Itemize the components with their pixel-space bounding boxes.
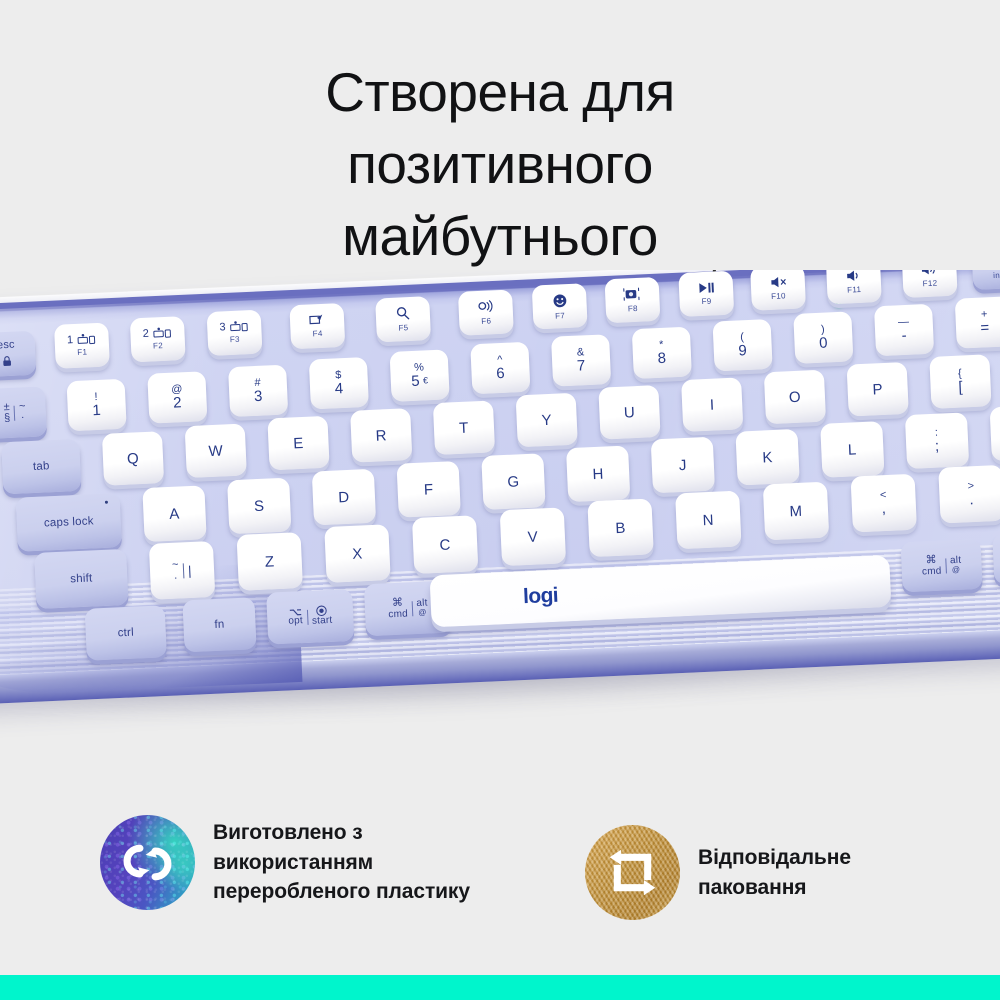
key-section[interactable]: ± § ~ · [0, 386, 47, 439]
key-f12[interactable]: F12 [902, 270, 958, 298]
key-f11[interactable]: F11 [826, 270, 882, 304]
emoji-icon [551, 292, 569, 310]
key-p[interactable]: P [847, 362, 909, 417]
search-icon [395, 305, 412, 322]
key-g[interactable]: G [481, 453, 545, 510]
responsible-packaging-icon [585, 825, 680, 920]
key-o[interactable]: O [764, 370, 826, 425]
key-u[interactable]: U [598, 385, 660, 440]
key-7[interactable]: & 7 [551, 334, 611, 387]
logi-logo: logi [523, 584, 559, 610]
key-ctrl[interactable]: ctrl [85, 605, 167, 661]
key-n[interactable]: N [675, 491, 741, 550]
at-icon-right: @ [952, 566, 961, 575]
badge-responsible-packaging-text: Відповідальне паковання [698, 843, 851, 902]
key-v[interactable]: V [500, 507, 566, 566]
key-f6[interactable]: F6 [458, 289, 514, 335]
key-r[interactable]: R [350, 408, 412, 463]
screenshot-camera-icon [623, 286, 642, 303]
key-w[interactable]: W [185, 424, 247, 479]
key-j[interactable]: J [651, 437, 715, 494]
key-f9[interactable]: F9 [678, 271, 734, 317]
snip-screenshot-icon [308, 313, 327, 328]
key-y[interactable]: Y [516, 393, 578, 448]
at-icon: @ [418, 609, 427, 618]
key-x[interactable]: X [324, 524, 390, 583]
key-9[interactable]: ( 9 [713, 319, 773, 372]
product-image-keyboard: esc 1 F1 [0, 270, 1000, 770]
dictation-icon [476, 299, 495, 316]
key-5[interactable]: % 5 € [390, 349, 450, 402]
device-1-icon [76, 333, 97, 346]
key-f3[interactable]: 3 F3 [207, 310, 263, 356]
key-h[interactable]: H [566, 445, 630, 502]
key-f5[interactable]: F5 [375, 296, 431, 342]
key-6[interactable]: ^ 6 [470, 342, 530, 395]
key-0[interactable]: ) 0 [793, 311, 853, 364]
keyboard-keys: esc 1 F1 [0, 270, 1000, 712]
key-q[interactable]: Q [102, 431, 164, 486]
sustainability-badges: Виготовлено з використанням переробленог… [0, 805, 1000, 945]
key-f4[interactable]: F4 [289, 303, 345, 349]
key-opt-start-left[interactable]: opt start [266, 589, 354, 645]
key-k[interactable]: K [735, 429, 799, 486]
key-esc[interactable]: esc [0, 331, 36, 378]
recycle-loop-glyph [100, 815, 195, 910]
key-i[interactable]: I [681, 377, 743, 432]
key-ins-brightness[interactable]: ins [971, 270, 1000, 290]
badge-responsible-packaging: Відповідальне паковання [585, 825, 851, 920]
key-f7[interactable]: F7 [532, 283, 588, 329]
key-semicolon[interactable]: : ; [905, 412, 969, 469]
key-bracket-left[interactable]: { [ [929, 354, 991, 409]
device-3-icon [229, 321, 250, 334]
key-z[interactable]: Z [237, 532, 303, 591]
key-c[interactable]: C [412, 515, 478, 574]
key-b[interactable]: B [587, 498, 653, 557]
key-minus[interactable]: — - [874, 304, 934, 357]
key-backslash[interactable]: ~ . | [149, 541, 215, 600]
key-spacebar[interactable]: logi [430, 555, 892, 627]
key-f10[interactable]: F10 [750, 270, 806, 311]
key-t[interactable]: T [433, 400, 495, 455]
key-3[interactable]: # 3 [228, 365, 288, 418]
key-s[interactable]: S [227, 478, 291, 535]
key-a[interactable]: A [142, 485, 206, 542]
caps-lock-indicator-icon [105, 501, 108, 504]
key-m[interactable]: M [763, 482, 829, 541]
key-8[interactable]: * 8 [632, 327, 692, 380]
mute-icon [768, 274, 788, 290]
key-cmd-alt-right[interactable]: ⌘ cmd alt @ [901, 539, 983, 593]
key-caps-lock[interactable]: caps lock [16, 493, 122, 552]
page-headline: Створена для позитивного майбутнього [0, 56, 1000, 272]
key-comma[interactable]: < , [851, 474, 917, 533]
badge-recycled-plastic-text: Виготовлено з використанням переробленог… [213, 818, 470, 906]
key-f2[interactable]: 2 F2 [130, 316, 186, 362]
recycled-plastic-icon [100, 815, 195, 910]
key-l[interactable]: L [820, 421, 884, 478]
key-equal[interactable]: + = [955, 296, 1000, 349]
key-shift-left[interactable]: shift [34, 549, 128, 609]
lock-icon [0, 354, 13, 368]
key-f[interactable]: F [397, 461, 461, 518]
key-f8[interactable]: F8 [605, 277, 661, 323]
bottom-accent-strip [0, 975, 1000, 1000]
key-2[interactable]: @ 2 [147, 371, 207, 424]
key-d[interactable]: D [312, 469, 376, 526]
device-2-icon [152, 327, 173, 340]
key-fn[interactable]: fn [182, 597, 256, 652]
key-quote[interactable]: " ' [990, 405, 1000, 462]
badge-recycled-plastic: Виготовлено з використанням переробленог… [100, 815, 470, 910]
key-opt-start-right[interactable]: opt start [992, 531, 1000, 585]
key-f1[interactable]: 1 F1 [54, 322, 110, 368]
key-e[interactable]: E [267, 416, 329, 471]
key-4[interactable]: $ 4 [309, 357, 369, 410]
key-1[interactable]: ! 1 [67, 379, 127, 432]
play-pause-icon [697, 281, 716, 296]
key-period[interactable]: > . [938, 465, 1000, 524]
packaging-loop-glyph [585, 825, 680, 920]
volume-down-icon [844, 270, 864, 284]
key-tab[interactable]: tab [1, 439, 81, 494]
